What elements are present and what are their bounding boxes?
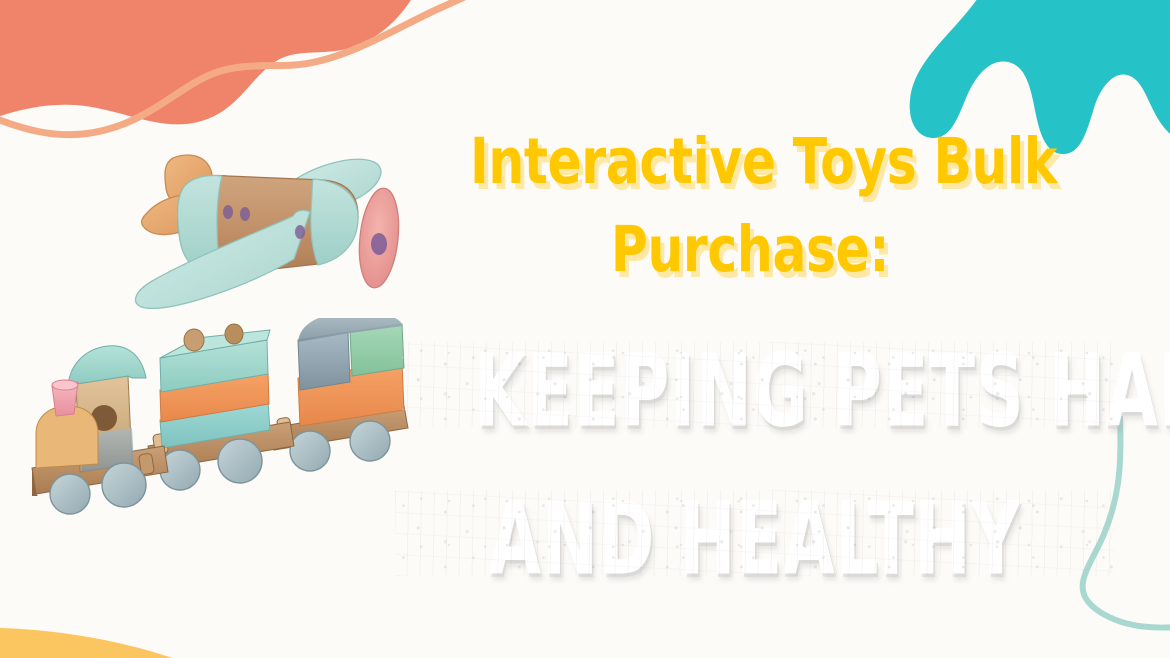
train-car2-knob	[225, 324, 243, 344]
coral-wave-shape	[0, 0, 430, 128]
subheadline-line-2: AND HEALTHY	[474, 490, 1036, 590]
airplane-window	[223, 205, 233, 219]
train-car3-block-slate	[298, 332, 350, 390]
headline-line-2: Purchase:	[470, 216, 1030, 284]
wooden-toy-airplane	[118, 128, 418, 328]
train-car2-knob	[184, 329, 204, 351]
subheadline-line-1: KEEPING PETS HAPPY	[474, 342, 1036, 442]
train-wheel	[290, 431, 330, 471]
headline: Interactive Toys Bulk Purchase:	[400, 128, 1100, 284]
train-wheel	[102, 463, 146, 507]
coral-thin-line	[0, 0, 552, 135]
train-wheel	[50, 474, 90, 514]
airplane-propeller-hub	[371, 233, 387, 255]
train-wheel	[350, 421, 390, 461]
airplane-window	[295, 225, 305, 239]
wooden-toy-train	[12, 318, 412, 523]
headline-line-1: Interactive Toys Bulk	[470, 128, 1030, 196]
train-loco-chimney-top	[52, 380, 78, 390]
train-loco-boiler	[36, 406, 98, 468]
poster-canvas: Interactive Toys Bulk Purchase: KEEPING …	[0, 0, 1170, 658]
airplane-window	[240, 207, 250, 221]
amber-corner-shape	[0, 628, 178, 658]
train-wheel	[218, 439, 262, 483]
subheadline: KEEPING PETS HAPPY AND HEALTHY	[395, 342, 1115, 576]
